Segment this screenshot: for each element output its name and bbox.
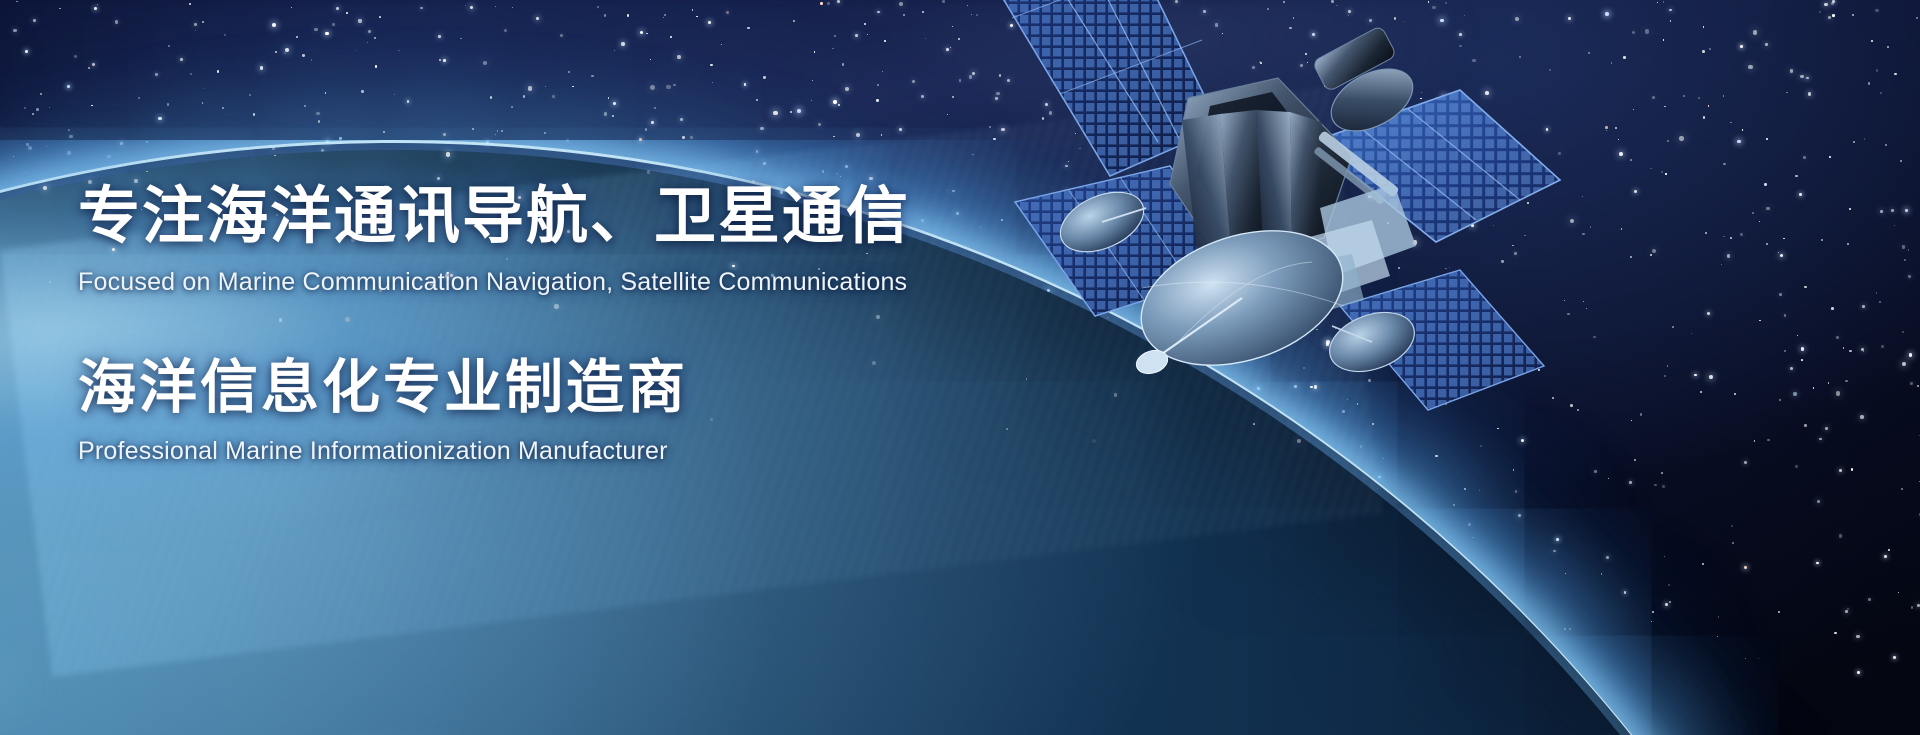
headline-primary-cn: 专注海洋通讯导航、卫星通信 xyxy=(78,186,1078,248)
headline-block: 专注海洋通讯导航、卫星通信 Focused on Marine Communic… xyxy=(78,186,1078,464)
hero-banner: 专注海洋通讯导航、卫星通信 Focused on Marine Communic… xyxy=(0,0,1920,735)
solar-panel-upper-left xyxy=(928,0,1220,176)
headline-secondary-en: Professional Marine Informationization M… xyxy=(78,439,1078,464)
headline-secondary-cn: 海洋信息化专业制造商 xyxy=(78,359,1078,417)
headline-primary-en: Focused on Marine Communication Navigati… xyxy=(78,270,1078,295)
